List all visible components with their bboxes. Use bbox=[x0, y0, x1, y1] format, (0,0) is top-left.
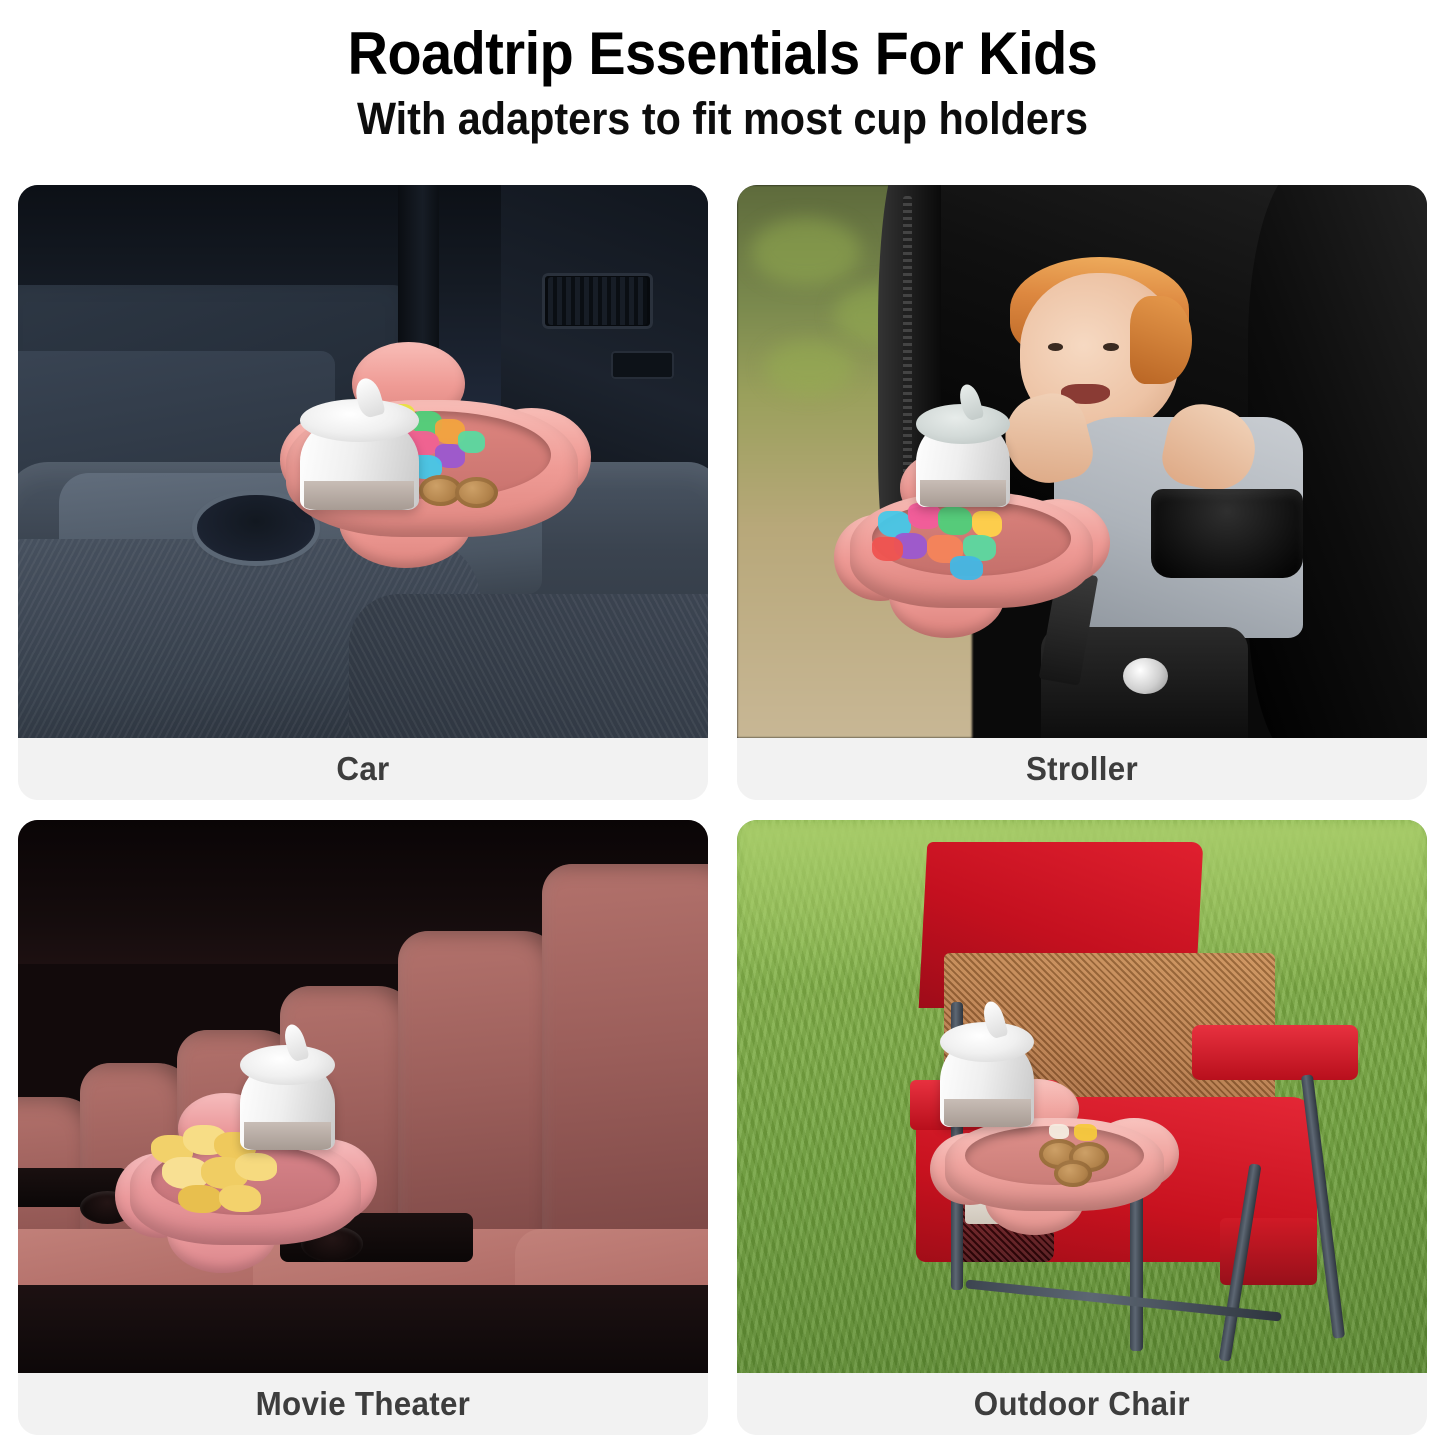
child-eye-left bbox=[1048, 343, 1064, 351]
foliage-blur bbox=[751, 218, 861, 284]
header: Roadtrip Essentials For Kids With adapte… bbox=[0, 0, 1445, 143]
movie-theater-caption-band: Movie Theater bbox=[18, 1373, 708, 1435]
car-caption: Car bbox=[336, 750, 389, 788]
child-hair-side bbox=[1130, 296, 1192, 384]
chair-armrest-right bbox=[1192, 1025, 1358, 1080]
theater-scene bbox=[18, 820, 708, 1373]
gummy-candy bbox=[458, 431, 484, 453]
gummy-candy bbox=[972, 511, 1002, 537]
stroller-photo bbox=[737, 185, 1427, 738]
use-case-card-stroller[interactable]: Stroller bbox=[737, 185, 1427, 800]
stroller-caption: Stroller bbox=[1026, 750, 1138, 788]
popcorn-piece bbox=[219, 1185, 261, 1212]
stroller-caption-band: Stroller bbox=[737, 738, 1427, 800]
cup-band bbox=[944, 1099, 1031, 1127]
cup-band bbox=[244, 1122, 331, 1150]
theater-floor bbox=[18, 1285, 708, 1373]
page-title: Roadtrip Essentials For Kids bbox=[51, 22, 1395, 86]
gummy-candy bbox=[872, 537, 902, 561]
product-tray-stroller bbox=[834, 450, 1110, 638]
car-air-vent-icon bbox=[542, 273, 652, 328]
foliage-blur bbox=[765, 340, 855, 395]
outdoor-chair-caption-band: Outdoor Chair bbox=[737, 1373, 1427, 1435]
sippy-cup bbox=[916, 417, 1010, 507]
popcorn-piece bbox=[235, 1153, 277, 1181]
stroller-knob bbox=[1123, 658, 1168, 694]
product-tray-theater bbox=[115, 1097, 377, 1274]
gummy-candy bbox=[950, 556, 983, 580]
page-subtitle: With adapters to fit most cup holders bbox=[58, 94, 1387, 144]
sippy-cup bbox=[300, 413, 419, 510]
candy-piece bbox=[1049, 1124, 1069, 1139]
use-case-card-movie-theater[interactable]: Movie Theater bbox=[18, 820, 708, 1435]
sippy-cup bbox=[240, 1058, 334, 1150]
use-case-card-car[interactable]: Car bbox=[18, 185, 708, 800]
cup-band bbox=[920, 480, 1006, 507]
outdoor-chair-scene bbox=[737, 820, 1427, 1373]
outdoor-chair-caption: Outdoor Chair bbox=[974, 1385, 1190, 1423]
gummy-candy bbox=[938, 507, 971, 535]
stroller-scene bbox=[737, 185, 1427, 738]
child-eye-right bbox=[1103, 343, 1119, 351]
popcorn-piece bbox=[178, 1185, 223, 1213]
cookie bbox=[1054, 1160, 1091, 1187]
candy-piece bbox=[1074, 1124, 1096, 1140]
use-case-grid: Car bbox=[18, 185, 1427, 1435]
car-air-vent-small-icon bbox=[611, 351, 673, 379]
car-photo bbox=[18, 185, 708, 738]
movie-theater-caption: Movie Theater bbox=[256, 1385, 471, 1423]
stroller-cup-holder bbox=[1151, 489, 1303, 577]
car-seat-fabric-right bbox=[349, 594, 708, 738]
pretzel-cookie bbox=[455, 477, 498, 508]
car-interior-scene bbox=[18, 185, 708, 738]
product-tray-car bbox=[266, 351, 597, 572]
outdoor-chair-photo bbox=[737, 820, 1427, 1373]
gummy-candy bbox=[908, 503, 941, 529]
sippy-cup bbox=[940, 1035, 1034, 1128]
movie-theater-photo bbox=[18, 820, 708, 1373]
product-tray-outdoor-chair bbox=[930, 1085, 1178, 1234]
cup-band bbox=[304, 481, 414, 510]
car-caption-band: Car bbox=[18, 738, 708, 800]
use-case-card-outdoor-chair[interactable]: Outdoor Chair bbox=[737, 820, 1427, 1435]
